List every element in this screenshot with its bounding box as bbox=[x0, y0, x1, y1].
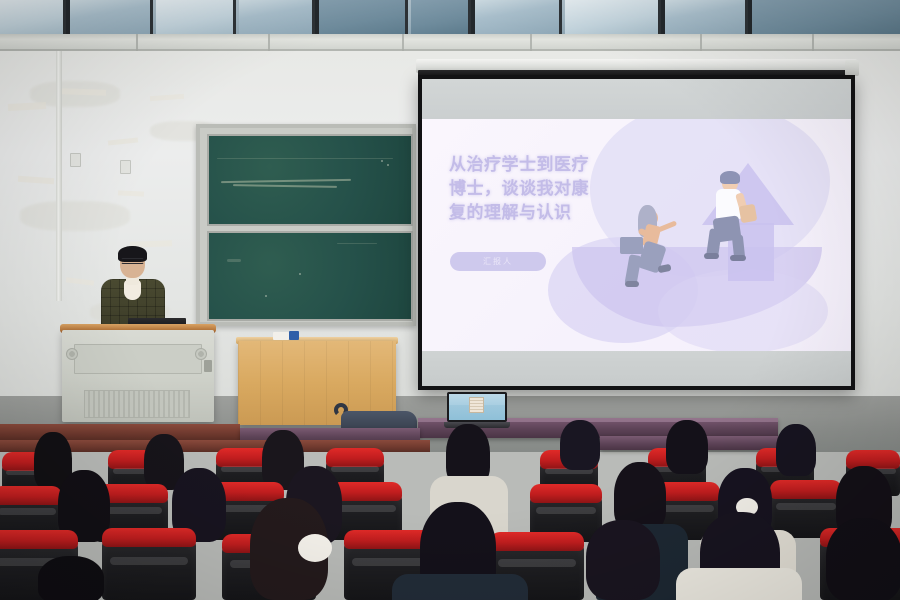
speaker-grille-icon bbox=[195, 348, 207, 360]
window-pane bbox=[565, 0, 661, 34]
laptop-image-building bbox=[469, 397, 484, 413]
slide-subtitle-pill: 汇报人 bbox=[450, 252, 546, 271]
clerestory-window-band bbox=[0, 0, 900, 34]
screen-top-margin bbox=[422, 79, 851, 119]
slide-subtitle-text: 汇报人 bbox=[483, 256, 513, 267]
lectern-paper bbox=[273, 332, 289, 340]
window-pane bbox=[156, 0, 236, 34]
chalkboard-panel-lower bbox=[207, 231, 413, 321]
window-pane bbox=[0, 0, 66, 34]
slide-title-line-2: 博士，谈谈我对康 bbox=[449, 177, 621, 201]
desk-row bbox=[0, 424, 240, 440]
laptop-screen-image bbox=[449, 394, 505, 420]
speaker-grille-icon bbox=[66, 348, 78, 360]
lectern-box bbox=[289, 331, 299, 340]
window-sill bbox=[0, 34, 900, 51]
auditorium-seat[interactable] bbox=[102, 528, 196, 600]
window-pane bbox=[411, 0, 471, 34]
screen-bottom-margin bbox=[422, 351, 851, 386]
lecture-hall-photo: 从治疗学士到医疗 博士，谈谈我对康 复的理解与认识 汇报人 bbox=[0, 0, 900, 600]
chalkboard-icon bbox=[196, 124, 416, 326]
window-pane bbox=[474, 0, 562, 34]
chalkboard-panel-upper bbox=[207, 134, 413, 226]
wall-socket bbox=[120, 160, 131, 174]
laptop-screen bbox=[447, 392, 507, 422]
slide-title: 从治疗学士到医疗 博士，谈谈我对康 复的理解与认识 bbox=[449, 153, 621, 225]
projector-screen-surface: 从治疗学士到医疗 博士，谈谈我对康 复的理解与认识 汇报人 bbox=[422, 79, 851, 386]
wall-socket bbox=[70, 153, 81, 167]
glasses-icon bbox=[121, 258, 144, 264]
window-pane bbox=[318, 0, 408, 34]
podium-vent bbox=[84, 390, 190, 418]
window-pane bbox=[239, 0, 315, 34]
wall-pipe bbox=[56, 51, 62, 301]
window-pane bbox=[664, 0, 748, 34]
window-pane bbox=[751, 0, 900, 34]
projector-screen-icon: 从治疗学士到医疗 博士，谈谈我对康 复的理解与认识 汇报人 bbox=[418, 75, 855, 390]
teacher-console bbox=[62, 330, 214, 422]
podium-lock bbox=[204, 360, 212, 372]
slide-title-line-3: 复的理解与认识 bbox=[449, 201, 621, 225]
podium-front-panel bbox=[74, 344, 202, 374]
projector-screen-endcap bbox=[845, 60, 859, 76]
window-pane bbox=[69, 0, 153, 34]
slide-title-line-1: 从治疗学士到医疗 bbox=[449, 153, 621, 177]
laptop-icon bbox=[447, 392, 507, 430]
projected-slide: 从治疗学士到医疗 博士，谈谈我对康 复的理解与认识 汇报人 bbox=[422, 119, 851, 351]
